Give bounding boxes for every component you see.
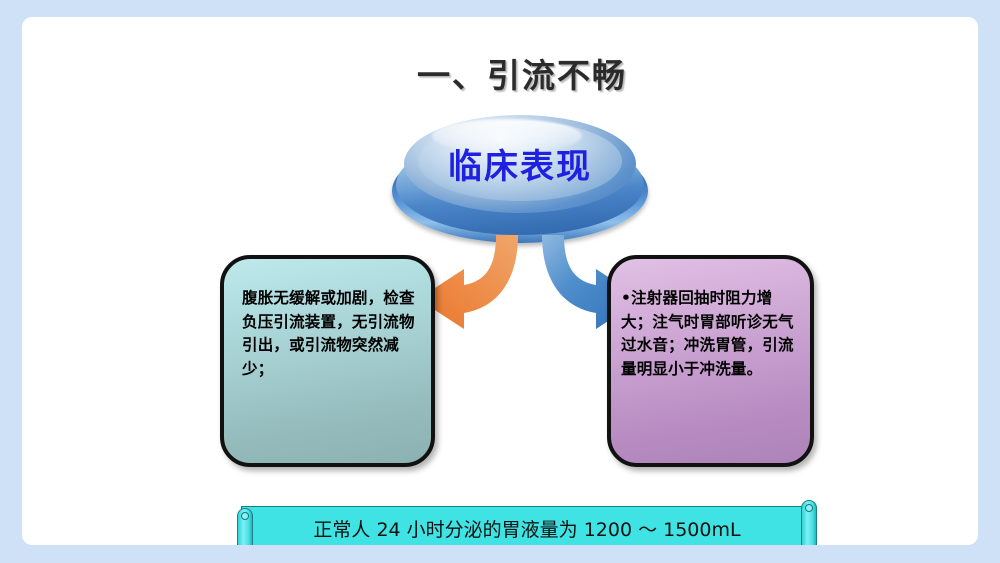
banner-text: 正常人 24 小时分泌的胃液量为 1200 ～ 1500mL	[241, 506, 813, 545]
center-node-label: 临床表现	[392, 139, 648, 188]
left-symptom-text: 腹胀无缓解或加剧，检查负压引流装置，无引流物引出，或引流物突然减少；	[242, 287, 419, 381]
slide-frame: 一、引流不畅 临床表现	[0, 0, 1000, 563]
footnote-banner[interactable]: 正常人 24 小时分泌的胃液量为 1200 ～ 1500mL	[227, 500, 827, 545]
page-title: 一、引流不畅	[22, 49, 978, 97]
slide-canvas: 一、引流不畅 临床表现	[22, 17, 978, 545]
right-symptom-box[interactable]: •注射器回抽时阻力增大；注气时胃部听诊无气过水音；冲洗胃管，引流量明显小于冲洗量…	[607, 255, 814, 467]
right-symptom-text: •注射器回抽时阻力增大；注气时胃部听诊无气过水音；冲洗胃管，引流量明显小于冲洗量…	[621, 287, 802, 381]
left-symptom-box[interactable]: 腹胀无缓解或加剧，检查负压引流装置，无引流物引出，或引流物突然减少；	[220, 255, 435, 467]
center-node[interactable]: 临床表现	[392, 113, 648, 249]
